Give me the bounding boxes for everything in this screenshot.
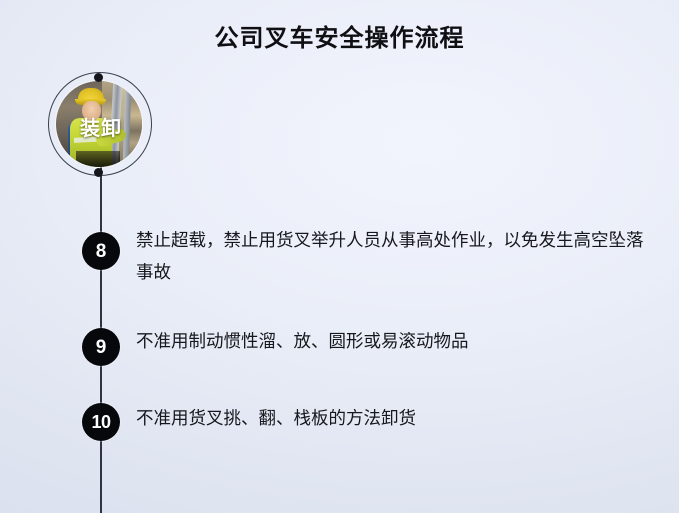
page-title: 公司叉车安全操作流程 xyxy=(0,18,679,53)
photo-node[interactable]: 装卸 xyxy=(48,72,154,178)
photo-node-label: 装卸 xyxy=(48,112,154,141)
slide-canvas: 公司叉车安全操作流程 装卸 8 禁止超载，禁止用货叉举升人员从事高处作业，以免发… xyxy=(0,0,679,513)
timeline-dot-bottom xyxy=(94,168,103,177)
step-number-badge: 10 xyxy=(82,403,120,441)
step-number-badge: 9 xyxy=(82,328,120,366)
photo-foreground-shadow xyxy=(76,151,120,167)
step-text: 不准用制动惯性溜、放、圆形或易滚动物品 xyxy=(136,325,656,357)
timeline-dot-top xyxy=(94,73,103,82)
step-text: 不准用货叉挑、翻、栈板的方法卸货 xyxy=(136,402,656,434)
step-text: 禁止超载，禁止用货叉举升人员从事高处作业，以免发生高空坠落事故 xyxy=(136,224,656,288)
step-number-badge: 8 xyxy=(82,232,120,270)
